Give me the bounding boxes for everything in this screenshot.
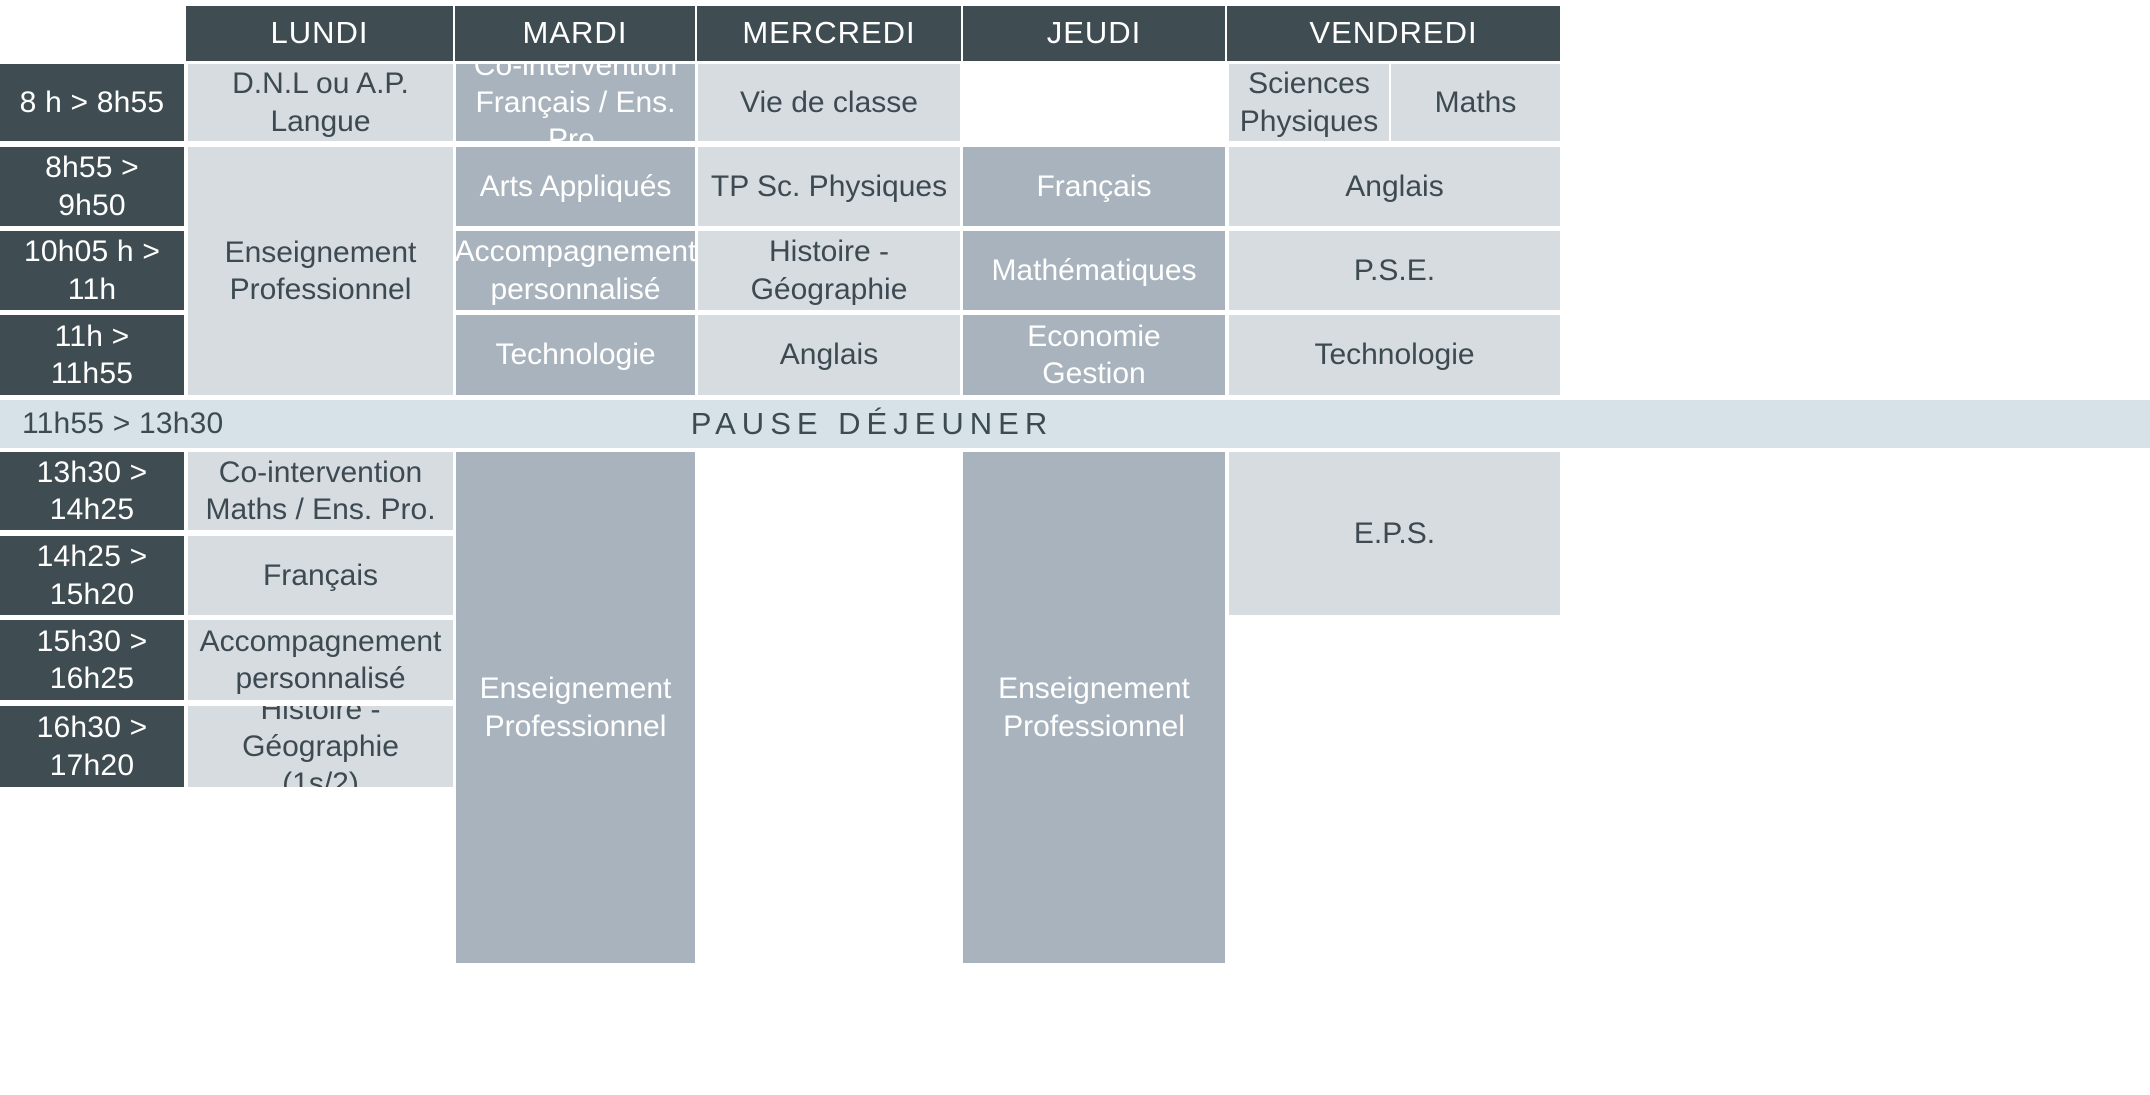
course-lundi-am-1: D.N.L ou A.P. Langue [188, 64, 453, 141]
course-vendredi-am-4: Technologie [1229, 315, 1560, 395]
day-header-lundi: LUNDI [186, 6, 453, 61]
course-vendredi-am-1b: Maths [1391, 64, 1560, 141]
course-jeudi-am-3: Mathématiques [963, 231, 1225, 310]
course-lundi-am-block: Enseignement Professionnel [188, 147, 453, 395]
course-lundi-pm-4: Histoire - Géographie (1s/2) [188, 706, 453, 787]
time-slot-8h-8h55: 8 h > 8h55 [0, 64, 184, 141]
course-vendredi-am-2: Anglais [1229, 147, 1560, 226]
course-jeudi-pm-block: Enseignement Professionnel [963, 452, 1225, 963]
lunch-banner-label: PAUSE DÉJEUNER [184, 400, 1560, 448]
course-jeudi-am-1-empty [963, 64, 1225, 141]
course-vendredi-am-3: P.S.E. [1229, 231, 1560, 310]
course-mardi-am-4: Technologie [456, 315, 695, 395]
course-mardi-am-2: Arts Appliqués [456, 147, 695, 226]
course-mardi-pm-block: Enseignement Professionnel [456, 452, 695, 963]
course-vendredi-am-1a: Sciences Physiques [1229, 64, 1389, 141]
course-lundi-pm-1: Co-intervention Maths / Ens. Pro. [188, 452, 453, 530]
course-vendredi-pm-block: E.P.S. [1229, 452, 1560, 615]
course-lundi-pm-3: Accompagnement personnalisé [188, 620, 453, 700]
timetable: LUNDI MARDI MERCREDI JEUDI VENDREDI 8 h … [0, 0, 2150, 1095]
course-lundi-pm-2: Français [188, 536, 453, 615]
day-header-jeudi: JEUDI [963, 6, 1225, 61]
time-slot-11h-11h55: 11h > 11h55 [0, 315, 184, 395]
course-mercredi-am-2: TP Sc. Physiques [698, 147, 960, 226]
course-jeudi-am-4: Economie Gestion [963, 315, 1225, 395]
course-mercredi-am-3: Histoire - Géographie [698, 231, 960, 310]
course-mercredi-am-1: Vie de classe [698, 64, 960, 141]
course-mercredi-am-4: Anglais [698, 315, 960, 395]
day-header-vendredi: VENDREDI [1227, 6, 1560, 61]
day-header-mercredi: MERCREDI [697, 6, 961, 61]
time-slot-14h25-15h20: 14h25 > 15h20 [0, 536, 184, 615]
course-mercredi-pm-empty [698, 452, 960, 963]
day-header-mardi: MARDI [455, 6, 695, 61]
course-mardi-am-1: Co-intervention Français / Ens. Pro. [456, 64, 695, 141]
time-slot-16h30-17h20: 16h30 > 17h20 [0, 706, 184, 787]
course-jeudi-am-2: Français [963, 147, 1225, 226]
time-slot-8h55-9h50: 8h55 > 9h50 [0, 147, 184, 226]
course-mardi-am-3: Accompagnement personnalisé [456, 231, 695, 310]
time-slot-13h30-14h25: 13h30 > 14h25 [0, 452, 184, 530]
time-slot-15h30-16h25: 15h30 > 16h25 [0, 620, 184, 700]
time-slot-10h05-11h: 10h05 h > 11h [0, 231, 184, 310]
